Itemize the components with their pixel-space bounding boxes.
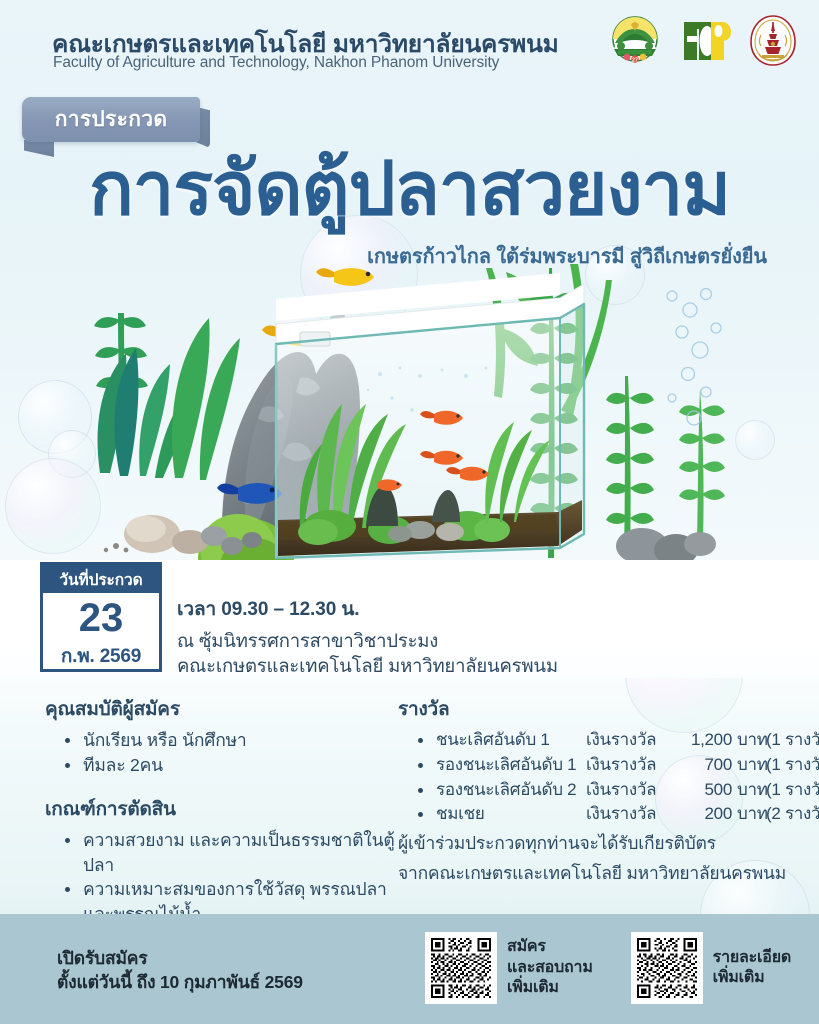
plant-fern-right2: [606, 376, 654, 554]
prize-count: (1 รางวัล): [766, 728, 819, 753]
list-item: ทีมละ 2คน: [59, 753, 405, 778]
qr-code-group: สมัคร และสอบถาม เพิ่มเติม: [425, 932, 791, 1004]
prize-label: เงินรางวัล: [586, 802, 668, 827]
registration-period: เปิดรับสมัคร ตั้งแต่วันนี้ ถึง 10 กุมภาพ…: [57, 947, 303, 994]
qr-item-details[interactable]: รายละเอียด เพิ่มเติม: [631, 932, 791, 1004]
date-box-month-year: ก.พ. 2569: [43, 643, 159, 669]
qualifications-title: คุณสมบัติผู้สมัคร: [45, 694, 405, 724]
prize-rank: รองชนะเลิศอันดับ 2: [436, 778, 586, 803]
certificate-note-line2: จากคณะเกษตรและเทคโนโลยี มหาวิทยาลัยนครพน…: [398, 861, 808, 886]
qr-caption-line2: และสอบถาม: [507, 958, 593, 978]
prize-count: (1 รางวัล): [766, 778, 819, 803]
certificate-note-line1: ผู้เข้าร่วมประกวดทุกท่านจะได้รับเกียรติบ…: [398, 831, 808, 856]
prize-amount: 1,200: [668, 728, 732, 753]
event-venue-line2: คณะเกษตรและเทคโนโลยี มหาวิทยาลัยนครพนม: [177, 652, 558, 681]
plant-left-tall: [172, 318, 240, 480]
university-seal-logo: [745, 13, 801, 74]
prize-unit: บาท: [732, 778, 766, 803]
qr-caption-line2: เพิ่มเติม: [713, 968, 791, 988]
logo-group: 27: [607, 13, 801, 74]
qr-caption-apply: สมัคร และสอบถาม เพิ่มเติม: [507, 937, 593, 998]
agri-tech-logo: [677, 14, 731, 73]
prize-count: (1 รางวัล): [766, 753, 819, 778]
qr-item-apply[interactable]: สมัคร และสอบถาม เพิ่มเติม: [425, 932, 593, 1004]
aquarium-illustration: [0, 258, 819, 578]
prize-label: เงินรางวัล: [586, 753, 668, 778]
list-item: ความสวยงาม และความเป็นธรรมชาติในตู้ปลา: [59, 828, 405, 878]
details-right-column: รางวัล ชนะเลิศอันดับ 1เงินรางวัล1,200บาท…: [398, 694, 808, 886]
qr-caption-line3: เพิ่มเติม: [507, 978, 593, 998]
prize-unit: บาท: [732, 728, 766, 753]
criteria-title: เกณฑ์การตัดสิน: [45, 794, 405, 824]
prize-row: ชมเชยเงินรางวัล200บาท(2 รางวัล): [412, 802, 808, 827]
prize-rank: รองชนะเลิศอันดับ 1: [436, 753, 586, 778]
prize-row: ชนะเลิศอันดับ 1เงินรางวัล1,200บาท(1 รางว…: [412, 728, 808, 753]
registration-line1: เปิดรับสมัคร: [57, 947, 303, 971]
prizes-title: รางวัล: [398, 694, 808, 724]
nakhon-phanom-emblem-logo: 27: [607, 13, 663, 74]
prize-amount: 500: [668, 778, 732, 803]
prize-row: รองชนะเลิศอันดับ 1เงินรางวัล700บาท(1 ราง…: [412, 753, 808, 778]
ribbon-label: การประกวด: [22, 97, 200, 142]
svg-text:27: 27: [632, 58, 638, 64]
qualifications-list: นักเรียน หรือ นักศึกษา ทีมละ 2คน: [59, 728, 405, 778]
list-item: นักเรียน หรือ นักศึกษา: [59, 728, 405, 753]
qr-code-icon[interactable]: [425, 932, 497, 1004]
qr-code-icon[interactable]: [631, 932, 703, 1004]
date-box-day: 23: [43, 593, 159, 643]
details-left-column: คุณสมบัติผู้สมัคร นักเรียน หรือ นักศึกษา…: [45, 694, 405, 927]
prize-rank: ชมเชย: [436, 802, 586, 827]
prize-label: เงินรางวัล: [586, 728, 668, 753]
bubble-stream: [667, 289, 721, 426]
date-box: วันที่ประกวด 23 ก.พ. 2569: [40, 562, 162, 672]
event-time: เวลา 09.30 – 12.30 น.: [177, 594, 359, 624]
registration-line2: ตั้งแต่วันนี้ ถึง 10 กุมภาพันธ์ 2569: [57, 971, 303, 995]
qr-caption-details: รายละเอียด เพิ่มเติม: [713, 948, 791, 989]
spacer: [45, 778, 405, 794]
poster-footer: เปิดรับสมัคร ตั้งแต่วันนี้ ถึง 10 กุมภาพ…: [0, 914, 819, 1024]
prize-rank: ชนะเลิศอันดับ 1: [436, 728, 586, 753]
prize-amount: 700: [668, 753, 732, 778]
qr-caption-line1: รายละเอียด: [713, 948, 791, 968]
prize-count: (2 รางวัล): [766, 802, 819, 827]
qr-caption-line1: สมัคร: [507, 937, 593, 957]
fish-tank: [276, 273, 584, 558]
prize-label: เงินรางวัล: [586, 778, 668, 803]
poster-canvas: คณะเกษตรและเทคโนโลยี มหาวิทยาลัยนครพนม F…: [0, 0, 819, 1024]
faculty-name-english: Faculty of Agriculture and Technology, N…: [53, 54, 499, 72]
criteria-list: ความสวยงาม และความเป็นธรรมชาติในตู้ปลา ค…: [59, 828, 405, 927]
poster-header: คณะเกษตรและเทคโนโลยี มหาวิทยาลัยนครพนม F…: [0, 0, 819, 92]
page-title: การจัดตู้ปลาสวยงาม: [0, 152, 819, 226]
fish-yellow-top: [316, 268, 374, 286]
prize-row: รองชนะเลิศอันดับ 2เงินรางวัล500บาท(1 ราง…: [412, 778, 808, 803]
prize-amount: 200: [668, 802, 732, 827]
prize-unit: บาท: [732, 802, 766, 827]
prize-unit: บาท: [732, 753, 766, 778]
prizes-list: ชนะเลิศอันดับ 1เงินรางวัล1,200บาท(1 รางว…: [412, 728, 808, 827]
date-box-label: วันที่ประกวด: [43, 565, 159, 593]
plant-fern-right3: [679, 388, 725, 540]
